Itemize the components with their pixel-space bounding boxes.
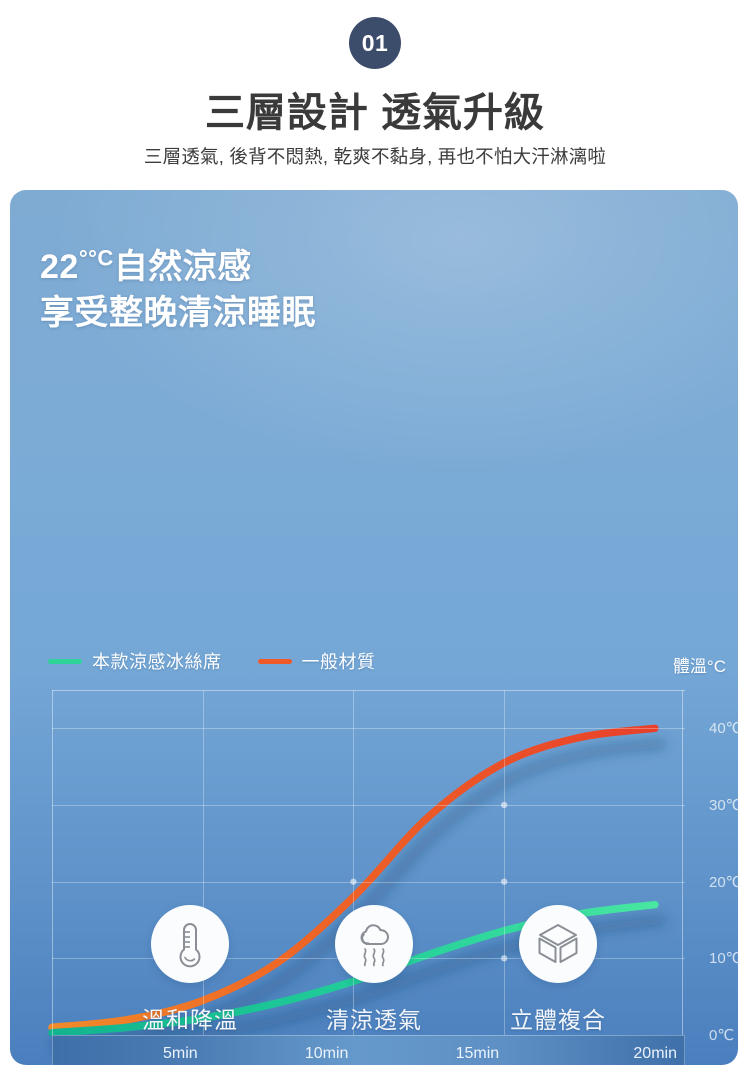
feature-label-breathable: 清涼透氣 xyxy=(326,1001,422,1035)
feature-label-3d-composite: 立體複合 xyxy=(510,1001,606,1035)
feature-icon-circle-3d-composite xyxy=(519,905,597,983)
y-axis-title: 體溫°C xyxy=(673,652,726,677)
y-axis-tick-label: 20℃ xyxy=(709,873,738,891)
feature-panel: 22°°C自然涼感 享受整晚清涼睡眠 本款涼感冰絲席 一般材質 體溫°C xyxy=(10,190,738,1065)
hero-temp-rest: 自然涼感 xyxy=(114,248,252,286)
chart-legend: 本款涼感冰絲席 一般材質 xyxy=(48,648,376,674)
legend-swatch-green xyxy=(48,659,82,664)
hero-temp-unit: °°C xyxy=(79,246,114,271)
x-axis-tick-label: 20min xyxy=(633,1045,677,1063)
gridline-horizontal xyxy=(52,728,685,729)
page-root: 01 三層設計 透氣升級 三層透氣, 後背不悶熱, 乾爽不黏身, 再也不怕大汗淋… xyxy=(0,0,750,1083)
legend-item-cool-mat: 本款涼感冰絲席 xyxy=(48,648,222,674)
legend-item-normal-material: 一般材質 xyxy=(258,648,376,674)
y-axis-tick-label: 30℃ xyxy=(709,796,738,814)
feature-item-3d-composite[interactable]: 立體複合 xyxy=(510,905,606,1035)
thermometer-icon xyxy=(170,920,210,968)
step-badge-number: 01 xyxy=(362,30,389,57)
feature-icon-circle-cooling xyxy=(151,905,229,983)
feature-list: 溫和降溫 清涼透氣 xyxy=(10,905,738,1035)
hero-temp-value: 22 xyxy=(40,248,79,286)
step-badge: 01 xyxy=(349,17,401,69)
feature-label-cooling: 溫和降溫 xyxy=(142,1001,238,1035)
x-axis-tick-label: 10min xyxy=(305,1045,349,1063)
feature-icon-circle-breathable xyxy=(335,905,413,983)
page-title: 三層設計 透氣升級 xyxy=(0,80,750,138)
legend-swatch-orange xyxy=(258,659,292,664)
hero-heading: 22°°C自然涼感 享受整晚清涼睡眠 xyxy=(40,245,316,337)
hero-line-1: 22°°C自然涼感 xyxy=(40,245,316,291)
cube-3d-icon xyxy=(535,921,581,967)
hero-line-2: 享受整晚清涼睡眠 xyxy=(40,291,316,337)
gridline-horizontal-top xyxy=(52,690,685,691)
gridline-horizontal xyxy=(52,805,685,806)
feature-item-cooling[interactable]: 溫和降溫 xyxy=(142,905,238,1035)
x-axis-tick-label: 5min xyxy=(163,1045,198,1063)
legend-label-cool-mat: 本款涼感冰絲席 xyxy=(92,648,222,674)
feature-item-breathable[interactable]: 清涼透氣 xyxy=(326,905,422,1035)
cloud-vapor-icon xyxy=(351,920,397,968)
y-axis-tick-label: 40℃ xyxy=(709,719,738,737)
legend-label-normal-material: 一般材質 xyxy=(302,648,376,674)
x-axis-band: 5min10min15min20min xyxy=(52,1035,685,1065)
x-axis-tick-label: 15min xyxy=(456,1045,500,1063)
gridline-horizontal xyxy=(52,882,685,883)
page-subtitle: 三層透氣, 後背不悶熱, 乾爽不黏身, 再也不怕大汗淋漓啦 xyxy=(0,143,750,169)
